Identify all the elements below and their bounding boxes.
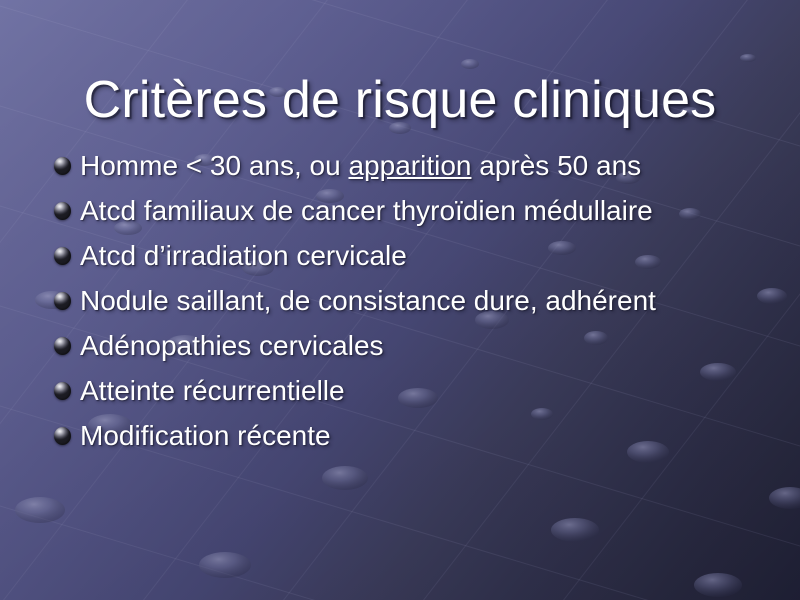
bullet-item-text: Atcd familiaux de cancer thyroïdien médu…: [80, 197, 653, 225]
list-item: Adénopathies cervicales: [50, 323, 772, 368]
bullet-item-text: Homme < 30 ans, ou apparition après 50 a…: [80, 152, 641, 180]
bullet-item-text: Modification récente: [80, 422, 331, 450]
sphere-bullet-icon: [54, 427, 71, 445]
bullet-item-text: Nodule saillant, de consistance dure, ad…: [80, 287, 656, 315]
list-item: Atteinte récurrentielle: [50, 368, 772, 413]
list-item: Atcd familiaux de cancer thyroïdien médu…: [50, 188, 772, 233]
sphere-bullet-icon: [54, 337, 71, 355]
sphere-bullet-icon: [54, 382, 71, 400]
list-item: Homme < 30 ans, ou apparition après 50 a…: [50, 143, 772, 188]
page-title: Critères de risque cliniques: [0, 71, 800, 129]
list-item: Nodule saillant, de consistance dure, ad…: [50, 278, 772, 323]
sphere-bullet-icon: [54, 202, 71, 220]
bullet-item-text: Atcd d’irradiation cervicale: [80, 242, 407, 270]
presentation-slide: Critères de risque cliniques Homme < 30 …: [0, 0, 800, 600]
sphere-bullet-icon: [54, 157, 71, 175]
list-item: Atcd d’irradiation cervicale: [50, 233, 772, 278]
bullet-item-text: Atteinte récurrentielle: [80, 377, 345, 405]
sphere-bullet-icon: [54, 247, 71, 265]
list-item: Modification récente: [50, 413, 772, 458]
bullet-list: Homme < 30 ans, ou apparition après 50 a…: [50, 143, 772, 458]
bullet-item-text: Adénopathies cervicales: [80, 332, 384, 360]
sphere-bullet-icon: [54, 292, 71, 310]
